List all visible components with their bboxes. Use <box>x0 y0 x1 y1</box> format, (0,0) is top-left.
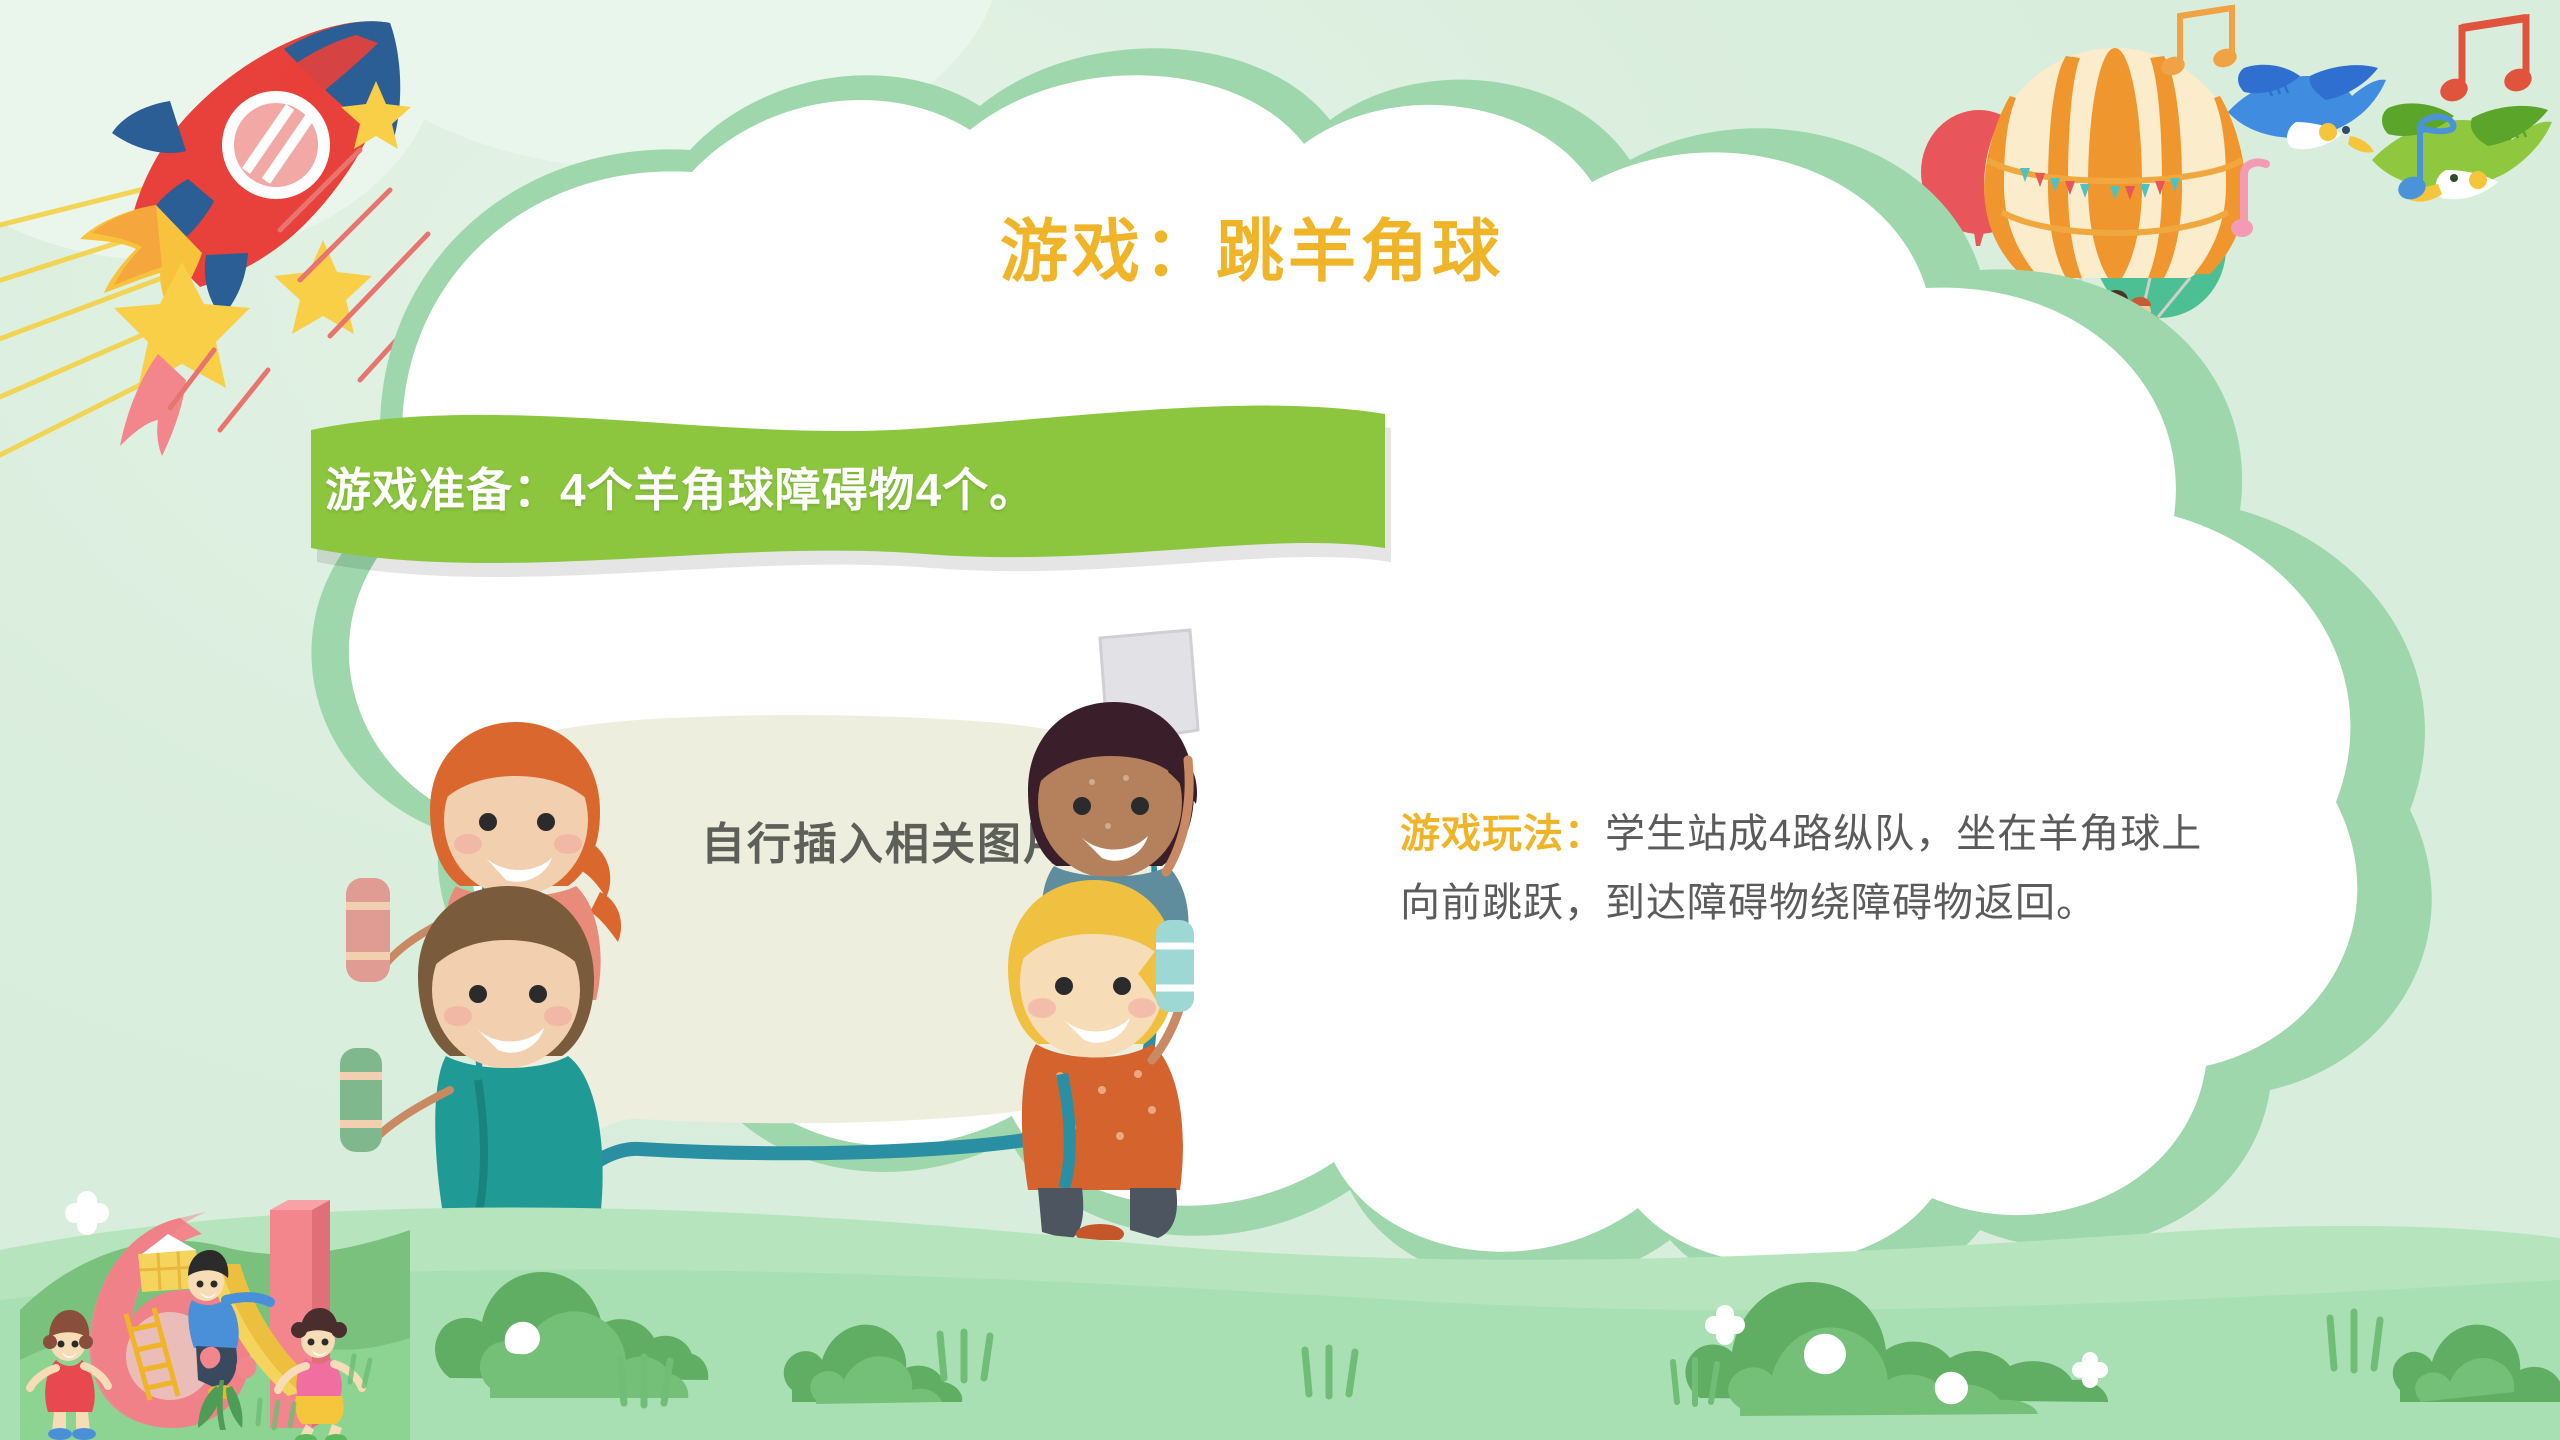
flower-icon <box>2068 1348 2112 1392</box>
bush-icon <box>430 1228 780 1418</box>
bush-icon <box>2390 1280 2560 1410</box>
game-rules-lead: 游戏玩法： <box>1400 812 1605 856</box>
grass-tuft-icon <box>930 1320 1000 1390</box>
game-rules-paragraph: 游戏玩法：学生站成4路纵队，坐在羊角球上向前跳跃，到达障碍物绕障碍物返回。 <box>1400 800 2220 938</box>
grass-tuft-icon <box>1665 1352 1725 1412</box>
grass-tuft-icon <box>610 1345 680 1415</box>
slide-canvas: 游戏：跳羊角球 游戏准备：4个羊角球障碍物4个。 自行插入相关图片 <box>0 0 2560 1440</box>
grass-tuft-icon <box>2320 1300 2390 1380</box>
flower-icon <box>1700 1300 1750 1350</box>
page-title: 游戏：跳羊角球 <box>1000 218 1504 286</box>
children-day-61-logo <box>20 1190 410 1440</box>
game-preparation-banner: 游戏准备：4个羊角球障碍物4个。 <box>305 398 1395 578</box>
grass-tuft-icon <box>1295 1336 1365 1406</box>
game-preparation-text: 游戏准备：4个羊角球障碍物4个。 <box>315 454 1415 520</box>
